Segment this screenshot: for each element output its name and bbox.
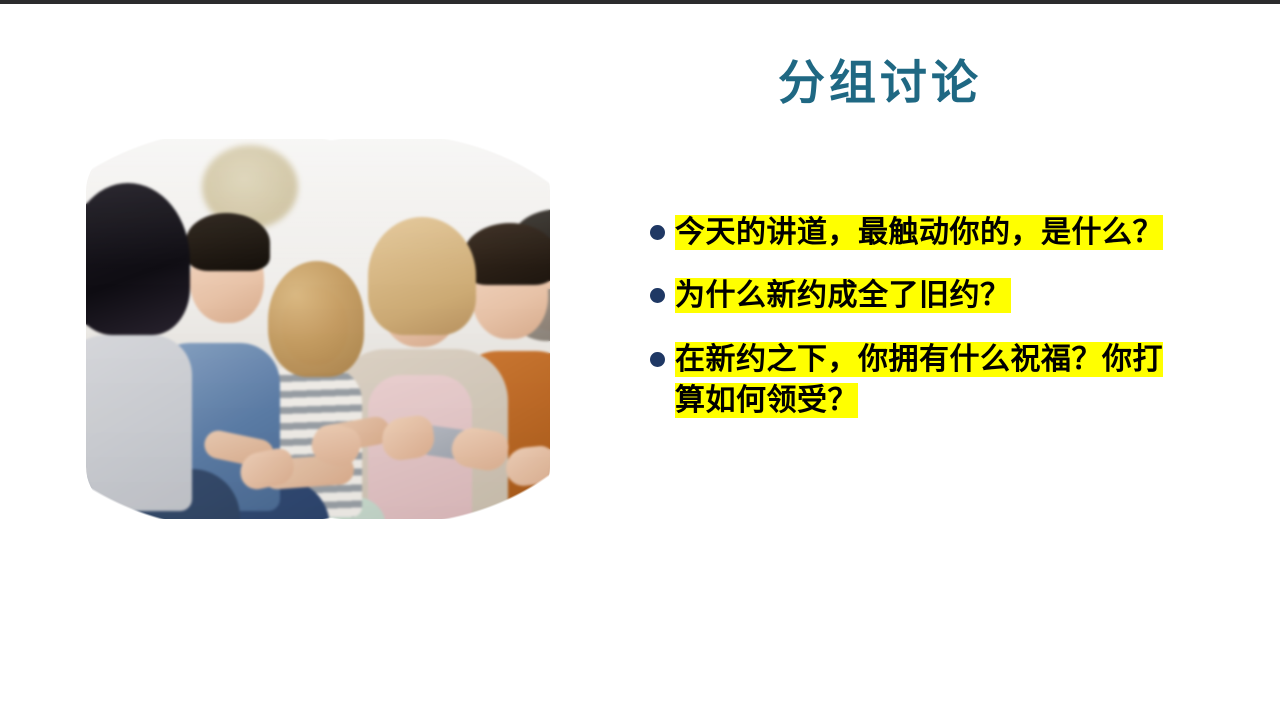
person-one-body bbox=[86, 335, 192, 511]
top-letterbox-bar bbox=[0, 0, 1280, 4]
page-title: 分组讨论 bbox=[560, 56, 1200, 110]
joined-hands-group bbox=[216, 407, 546, 503]
photo-canvas bbox=[86, 139, 550, 519]
question-text-two: 为什么新约成全了旧约？ bbox=[675, 275, 1230, 316]
question-two-highlight: 为什么新约成全了旧约？ bbox=[675, 278, 1011, 313]
list-item: 在新约之下，你拥有什么祝福？你打算如何领受？ bbox=[650, 339, 1230, 422]
question-three-highlight: 在新约之下，你拥有什么祝福？你打算如何领受？ bbox=[675, 342, 1163, 418]
person-five-hair bbox=[464, 223, 550, 285]
hand-four bbox=[449, 424, 511, 473]
question-text-one: 今天的讲道，最触动你的，是什么？ bbox=[675, 212, 1175, 253]
presentation-slide: 分组讨论 bbox=[0, 0, 1280, 719]
discussion-question-list: 今天的讲道，最触动你的，是什么？ 为什么新约成全了旧约？ 在新约之下，你拥有什么… bbox=[650, 212, 1230, 422]
list-item: 为什么新约成全了旧约？ bbox=[650, 275, 1230, 316]
list-item: 今天的讲道，最触动你的，是什么？ bbox=[650, 212, 1230, 253]
hand-five bbox=[504, 444, 550, 487]
hand-three bbox=[379, 414, 436, 463]
group-discussion-photo bbox=[86, 139, 550, 519]
question-one-highlight: 今天的讲道，最触动你的，是什么？ bbox=[675, 215, 1163, 250]
bullet-dot-icon bbox=[650, 225, 665, 240]
person-four-hair bbox=[368, 217, 476, 335]
bullet-dot-icon bbox=[650, 288, 665, 303]
person-three-hair bbox=[268, 261, 364, 377]
hand-two bbox=[307, 419, 364, 471]
hand-one bbox=[237, 446, 297, 492]
question-text-three: 在新约之下，你拥有什么祝福？你打算如何领受？ bbox=[675, 339, 1175, 422]
person-two-hair bbox=[186, 213, 270, 271]
bullet-dot-icon bbox=[650, 352, 665, 367]
